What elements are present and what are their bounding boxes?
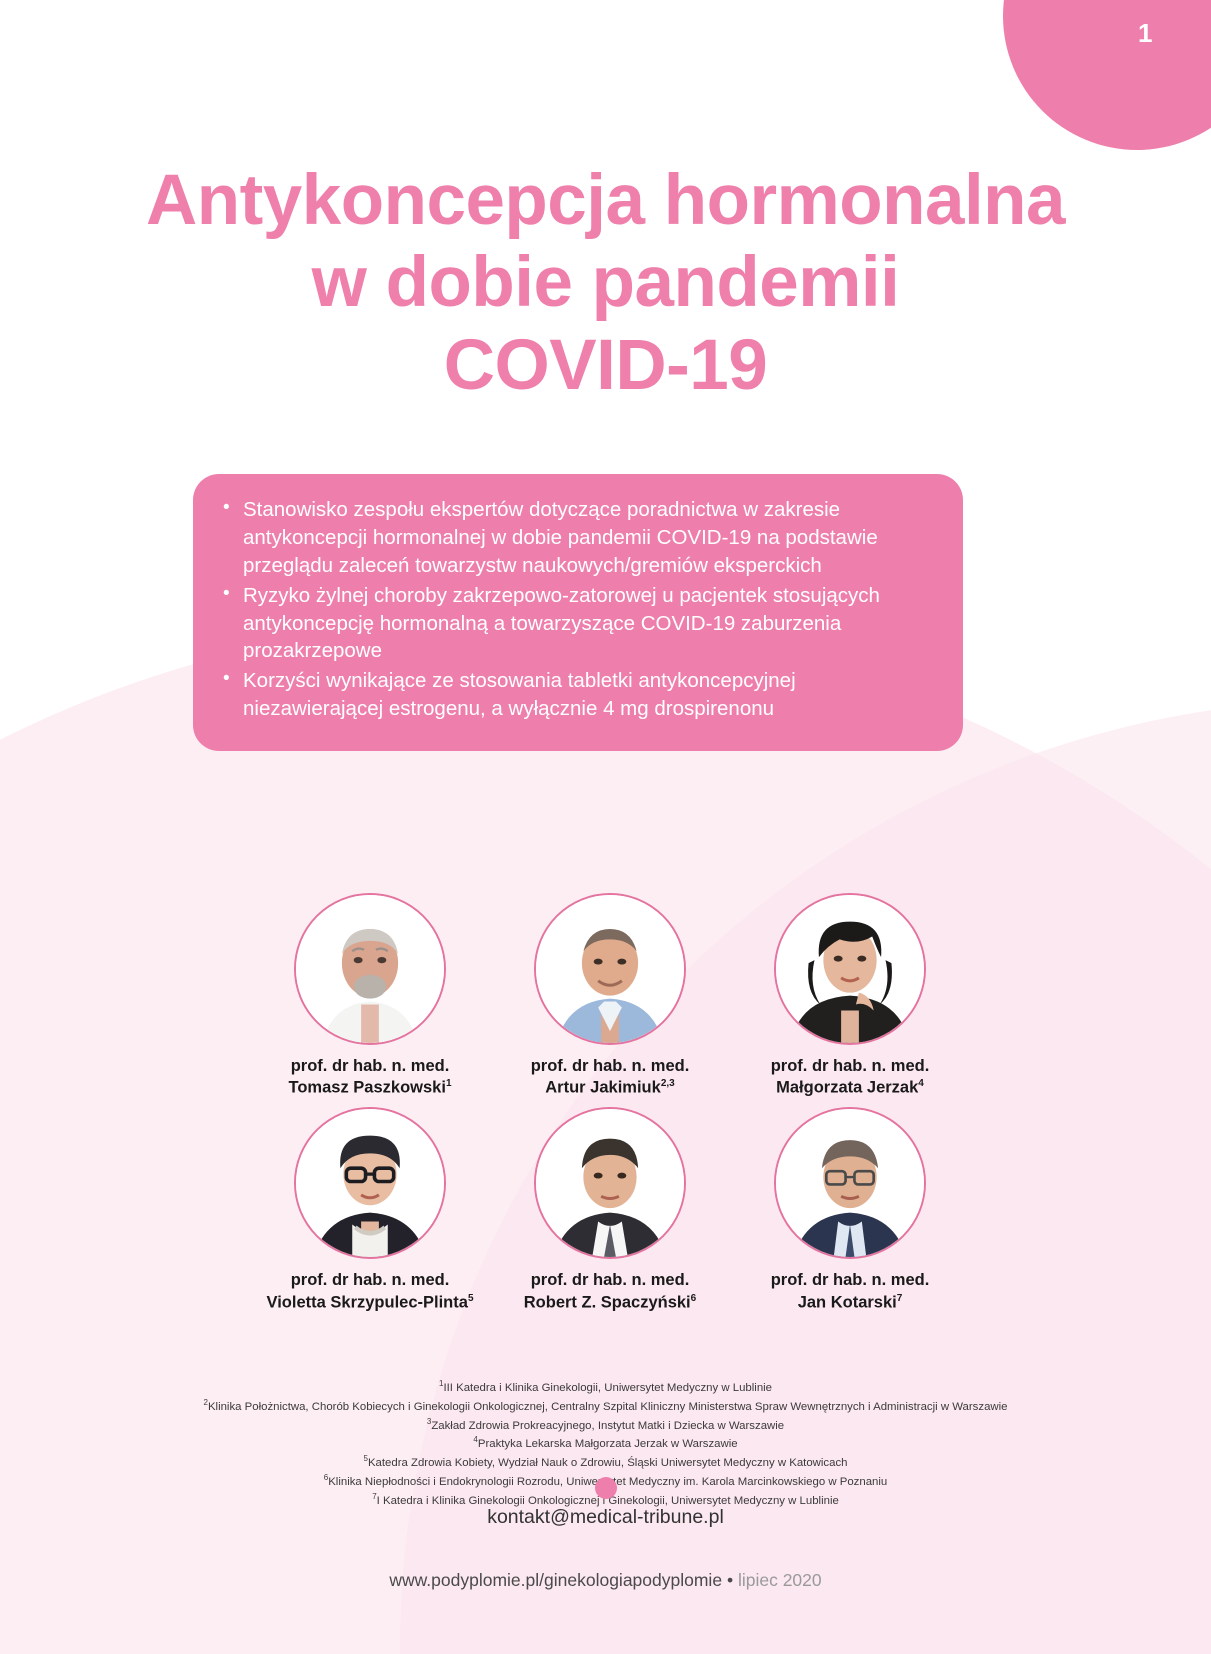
author-role: prof. dr hab. n. med.	[524, 1270, 696, 1291]
author-role: prof. dr hab. n. med.	[771, 1056, 930, 1077]
author-name: Robert Z. Spaczyński6	[524, 1292, 696, 1314]
author-affiliation-ref: 4	[918, 1078, 924, 1089]
portrait-photo-robert-spaczynski	[536, 1109, 684, 1257]
author-role: prof. dr hab. n. med.	[771, 1270, 930, 1291]
author-affiliation-ref: 1	[446, 1078, 452, 1089]
highlights-box: Stanowisko zespołu ekspertów dotyczące p…	[193, 474, 963, 751]
footer-issue: lipiec 2020	[738, 1570, 822, 1590]
affiliation-item: 5Katedra Zdrowia Kobiety, Wydział Nauk o…	[0, 1453, 1211, 1472]
title-line-1: Antykoncepcja hormonalna	[0, 160, 1211, 242]
portrait-photo-jan-kotarski	[776, 1109, 924, 1257]
footer-url[interactable]: www.podyplomie.pl/ginekologiapodyplomie	[389, 1570, 722, 1590]
avatar	[774, 893, 926, 1045]
avatar	[534, 1107, 686, 1259]
author-name: Violetta Skrzypulec-Plinta5	[267, 1292, 474, 1314]
author-card: prof. dr hab. n. med. Małgorzata Jerzak4	[730, 893, 970, 1099]
author-role: prof. dr hab. n. med.	[289, 1056, 452, 1077]
highlights-list: Stanowisko zespołu ekspertów dotyczące p…	[221, 496, 933, 723]
author-caption: prof. dr hab. n. med. Violetta Skrzypule…	[267, 1270, 474, 1313]
dot-separator-icon	[595, 1477, 617, 1499]
portrait-photo-violetta-skrzypulec-plinta	[296, 1109, 444, 1257]
author-caption: prof. dr hab. n. med. Tomasz Paszkowski1	[289, 1056, 452, 1099]
author-caption: prof. dr hab. n. med. Małgorzata Jerzak4	[771, 1056, 930, 1099]
affiliation-item: 1III Katedra i Klinika Ginekologii, Uniw…	[0, 1378, 1211, 1397]
highlight-item: Ryzyko żylnej choroby zakrzepowo-zatorow…	[221, 582, 933, 666]
portrait-photo-artur-jakimiuk	[536, 895, 684, 1043]
author-affiliation-ref: 2,3	[661, 1078, 675, 1089]
highlight-item: Korzyści wynikające ze stosowania tablet…	[221, 667, 933, 723]
avatar	[774, 1107, 926, 1259]
portrait-photo-malgorzata-jerzak	[776, 895, 924, 1043]
author-role: prof. dr hab. n. med.	[531, 1056, 690, 1077]
document-page: 1 Antykoncepcja hormonalna w dobie pande…	[0, 0, 1211, 1654]
author-name: Małgorzata Jerzak4	[771, 1077, 930, 1099]
avatar	[294, 893, 446, 1045]
affiliation-item: 3Zakład Zdrowia Prokreacyjnego, Instytut…	[0, 1416, 1211, 1435]
title-line-2: w dobie pandemii	[0, 242, 1211, 324]
avatar	[294, 1107, 446, 1259]
author-caption: prof. dr hab. n. med. Robert Z. Spaczyńs…	[524, 1270, 696, 1313]
highlight-item: Stanowisko zespołu ekspertów dotyczące p…	[221, 496, 933, 580]
author-caption: prof. dr hab. n. med. Artur Jakimiuk2,3	[531, 1056, 690, 1099]
author-name: Jan Kotarski7	[771, 1292, 930, 1314]
author-name: Tomasz Paszkowski1	[289, 1077, 452, 1099]
page-footer: www.podyplomie.pl/ginekologiapodyplomie …	[0, 1570, 1211, 1591]
author-card: prof. dr hab. n. med. Artur Jakimiuk2,3	[490, 893, 730, 1099]
contact-email[interactable]: kontakt@medical-tribune.pl	[0, 1506, 1211, 1529]
author-affiliation-ref: 6	[691, 1293, 697, 1304]
author-affiliation-ref: 5	[468, 1293, 474, 1304]
author-affiliation-ref: 7	[897, 1293, 903, 1304]
author-name: Artur Jakimiuk2,3	[531, 1077, 690, 1099]
affiliation-item: 4Praktyka Lekarska Małgorzata Jerzak w W…	[0, 1434, 1211, 1453]
title-line-3: COVID-19	[0, 325, 1211, 407]
author-role: prof. dr hab. n. med.	[267, 1270, 474, 1291]
page-content: Antykoncepcja hormonalna w dobie pandemi…	[0, 0, 1211, 1654]
avatar	[534, 893, 686, 1045]
page-title: Antykoncepcja hormonalna w dobie pandemi…	[0, 160, 1211, 407]
portrait-photo-tomasz-paszkowski	[296, 895, 444, 1043]
author-caption: prof. dr hab. n. med. Jan Kotarski7	[771, 1270, 930, 1313]
author-card: prof. dr hab. n. med. Robert Z. Spaczyńs…	[490, 1107, 730, 1313]
footer-bullet-icon: •	[727, 1570, 733, 1590]
author-card: prof. dr hab. n. med. Violetta Skrzypule…	[250, 1107, 490, 1313]
author-card: prof. dr hab. n. med. Tomasz Paszkowski1	[250, 893, 490, 1099]
author-card: prof. dr hab. n. med. Jan Kotarski7	[730, 1107, 970, 1313]
affiliation-item: 2Klinika Położnictwa, Chorób Kobiecych i…	[0, 1397, 1211, 1416]
authors-grid: prof. dr hab. n. med. Tomasz Paszkowski1	[250, 893, 970, 1322]
